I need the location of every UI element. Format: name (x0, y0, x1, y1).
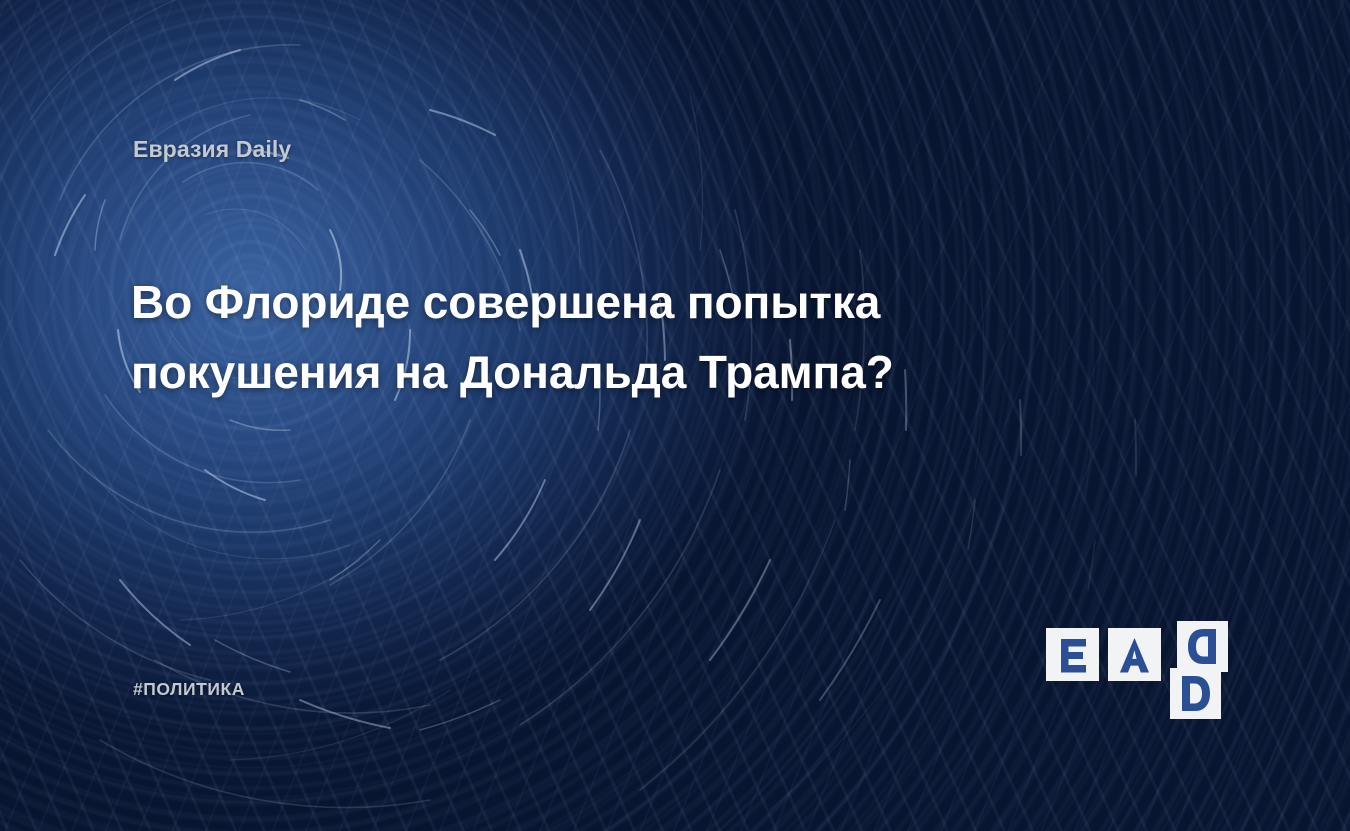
category-hashtag: #ПОЛИТИКА (133, 679, 245, 700)
social-card: Евразия Daily Во Флориде совершена попыт… (0, 0, 1350, 831)
card-content: Евразия Daily Во Флориде совершена попыт… (0, 0, 1350, 831)
eadaily-logo (1046, 621, 1228, 721)
logo-letter-e (1061, 639, 1086, 673)
logo-tile-d-lower (1170, 668, 1221, 719)
publisher-brand: Евразия Daily (133, 136, 291, 163)
logo-tile-d-upper (1177, 621, 1228, 672)
logo-tile-a (1108, 628, 1161, 681)
page-title: Во Флориде совершена попытка покушения н… (131, 268, 1091, 408)
